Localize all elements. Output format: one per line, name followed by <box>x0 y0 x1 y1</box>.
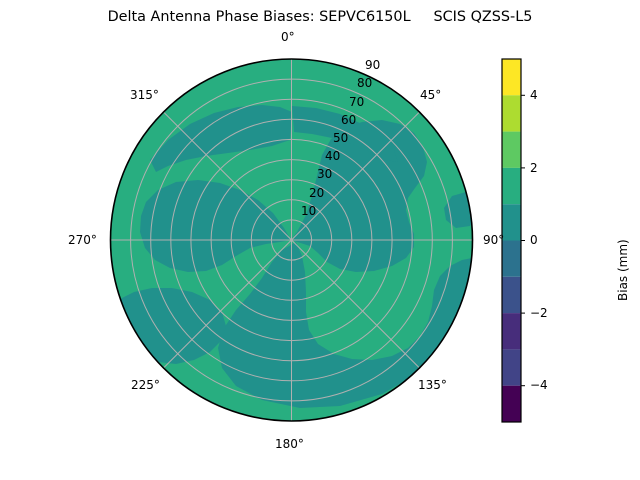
azimuth-tick-45: 45° <box>420 88 441 102</box>
radial-tick-20: 20 <box>309 186 324 200</box>
radial-tick-10: 10 <box>301 204 316 218</box>
radial-tick-30: 30 <box>317 167 332 181</box>
radial-tick-80: 80 <box>357 76 372 90</box>
angular-gridlines <box>111 59 473 421</box>
colorbar-tick-minus2: −2 <box>530 306 548 320</box>
colorbar-axis-label: Bias (mm) <box>616 181 630 301</box>
azimuth-tick-315: 315° <box>130 88 159 102</box>
figure-canvas: Delta Antenna Phase Biases: SEPVC6150L S… <box>0 0 640 480</box>
azimuth-tick-180: 180° <box>275 437 304 451</box>
azimuth-tick-270: 270° <box>68 233 97 247</box>
page-title: Delta Antenna Phase Biases: SEPVC6150L S… <box>0 9 640 25</box>
colorbar-tick-4: 4 <box>530 88 538 102</box>
azimuth-tick-135: 135° <box>418 378 447 392</box>
azimuth-tick-225: 225° <box>131 378 160 392</box>
colorbar-bands <box>502 59 521 422</box>
radial-tick-90: 90 <box>365 58 380 72</box>
azimuth-tick-0: 0° <box>281 30 295 44</box>
radial-tick-40: 40 <box>325 149 340 163</box>
radial-tick-60: 60 <box>341 113 356 127</box>
radial-tick-50: 50 <box>333 131 348 145</box>
radial-tick-70: 70 <box>349 95 364 109</box>
azimuth-tick-90: 90° <box>483 233 504 247</box>
colorbar-tick-0: 0 <box>530 233 538 247</box>
colorbar-tick-minus4: −4 <box>530 378 548 392</box>
colorbar-tick-2: 2 <box>530 161 538 175</box>
